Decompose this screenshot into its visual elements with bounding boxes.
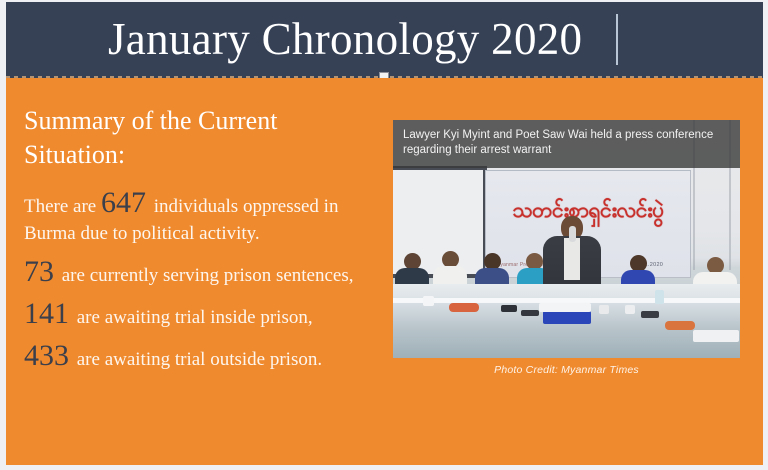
water-bottle (655, 290, 664, 304)
plate-of-food (449, 303, 479, 312)
cup-icon (599, 305, 609, 314)
speaker-shirt (564, 238, 580, 280)
photo-credit: Photo Credit: Myanmar Times (393, 364, 740, 376)
microphone-icon (569, 226, 576, 242)
presentation-slide: January Chronology 2020 Summary of the C… (0, 0, 768, 470)
stat-row: 73 are currently serving prison sentence… (24, 257, 364, 289)
intro-number: 647 (101, 186, 149, 219)
phone-icon (501, 305, 517, 312)
stat-label: are awaiting trial inside prison, (77, 307, 313, 328)
summary-heading: Summary of the Current Situation: (24, 104, 364, 172)
phone-icon (521, 310, 539, 316)
summary-intro-line: There are 647 individuals oppressed in B… (24, 188, 364, 247)
papers (693, 330, 739, 342)
plate-of-food (665, 321, 695, 330)
stat-label: are awaiting trial outside prison. (77, 349, 322, 370)
stat-number: 141 (24, 297, 72, 330)
summary-column: Summary of the Current Situation: There … (24, 104, 364, 375)
stat-row: 141 are awaiting trial inside prison, (24, 299, 364, 331)
slide-title-band[interactable]: January Chronology 2020 (6, 2, 763, 78)
stat-number: 433 (24, 339, 72, 372)
stat-number: 73 (24, 255, 57, 288)
papers (539, 303, 591, 312)
stat-row: 433 are awaiting trial outside prison. (24, 341, 364, 373)
page-title[interactable]: January Chronology 2020 (108, 8, 582, 70)
document-folder (543, 311, 591, 324)
intro-prefix: There are (24, 196, 96, 217)
photo-caption: Lawyer Kyi Myint and Poet Saw Wai held a… (393, 120, 740, 168)
cup-icon (423, 296, 434, 306)
press-conference-photo[interactable]: သတင်းစာရှင်းလင်းပွဲ Myanmar Press Freedo… (393, 120, 740, 358)
stat-label: are currently serving prison sentences, (62, 265, 354, 286)
phone-icon (641, 311, 659, 318)
cup-icon (625, 305, 635, 314)
text-cursor-caret (616, 14, 618, 65)
